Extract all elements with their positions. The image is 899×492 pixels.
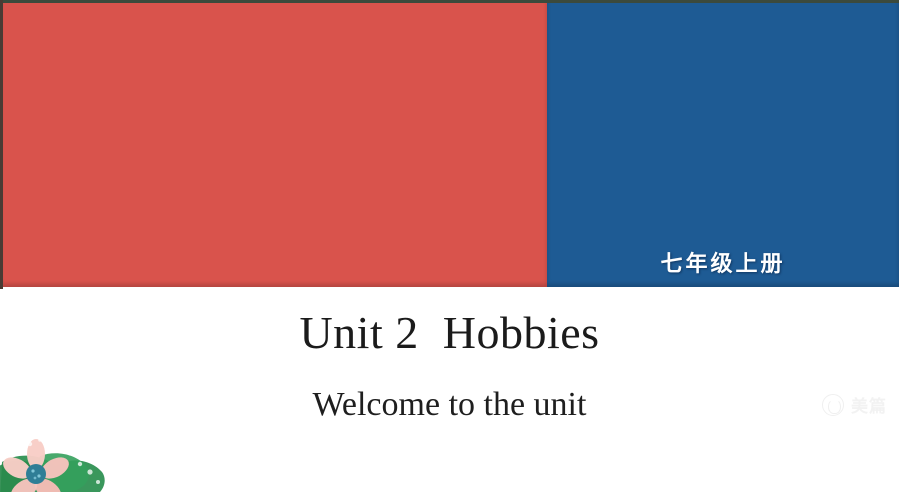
grade-volume-label: 七年级上册 [547,246,899,278]
textbook-cover-banner [0,0,899,287]
watermark: 美篇 [822,392,887,417]
watermark-label: 美篇 [851,392,887,417]
unit-title: Unit 2 Hobbies [0,306,899,359]
cover-blue-panel [547,0,899,287]
cover-red-panel [0,0,547,287]
unit-subtitle: Welcome to the unit [0,386,899,424]
flower-decoration-icon [0,428,122,492]
cover-left-edge [0,0,3,289]
slide-canvas: 义务教育教科书 英语 English 七年级上册 Unit 2 Hobbies … [0,0,899,492]
meipian-logo-icon [822,394,844,416]
cover-top-edge [0,0,899,3]
